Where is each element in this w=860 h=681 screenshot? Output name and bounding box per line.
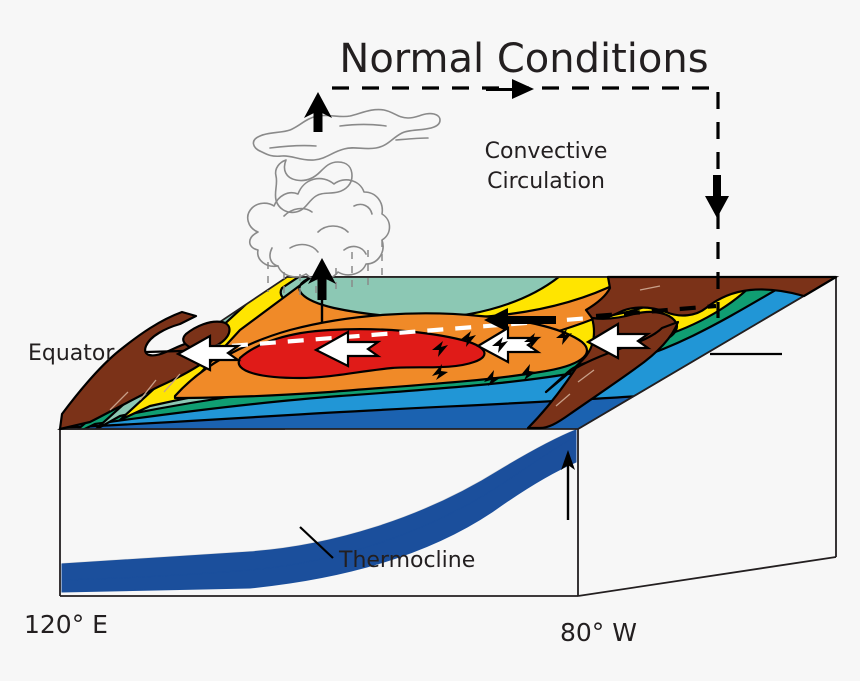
west-longitude-label: 120° E bbox=[24, 610, 108, 639]
convective-circulation-label-line2: Circulation bbox=[487, 169, 605, 194]
convective-circulation-label-line1: Convective bbox=[485, 139, 608, 164]
enso-normal-conditions-diagram: Normal Conditions Thermocline bbox=[0, 0, 860, 681]
thermocline-label: Thermocline bbox=[338, 548, 475, 573]
equator-label: Equator bbox=[28, 341, 115, 366]
east-longitude-label: 80° W bbox=[560, 618, 637, 647]
page-title: Normal Conditions bbox=[339, 36, 708, 82]
